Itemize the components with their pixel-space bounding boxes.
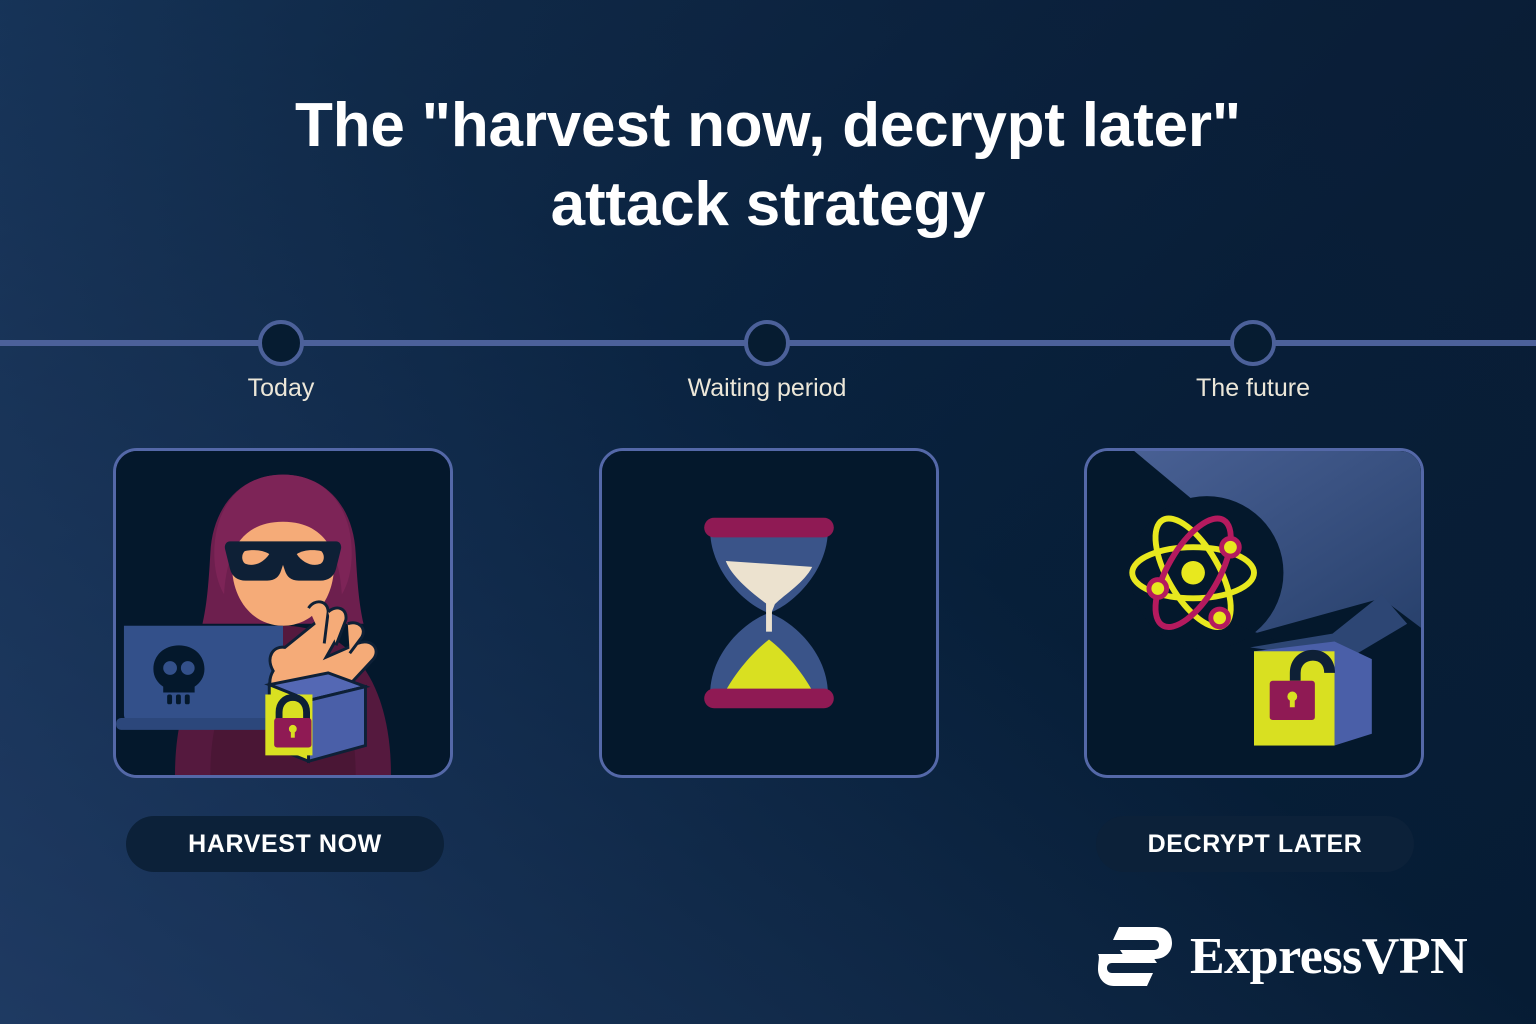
timeline-node-waiting-period xyxy=(744,320,790,366)
quantum-computer-unlocking-box-illustration xyxy=(1087,451,1421,775)
timeline-node-today xyxy=(258,320,304,366)
timeline-node-the-future xyxy=(1230,320,1276,366)
card-harvest-now xyxy=(113,448,453,778)
card-waiting-period xyxy=(599,448,939,778)
badge-decrypt-later: DECRYPT LATER xyxy=(1096,816,1414,872)
hourglass-cap-top xyxy=(704,518,834,538)
hacker-stealing-data-illustration xyxy=(116,451,450,775)
expressvpn-logo: ExpressVPN xyxy=(1096,920,1467,994)
hourglass-icon xyxy=(602,451,936,775)
hourglass-cap-bottom xyxy=(704,689,834,709)
infographic-canvas: The "harvest now, decrypt later" attack … xyxy=(0,0,1536,1024)
badge-harvest-now: HARVEST NOW xyxy=(126,816,444,872)
page-title: The "harvest now, decrypt later" attack … xyxy=(0,86,1536,245)
locked-data-box xyxy=(265,673,365,761)
timeline-label-the-future: The future xyxy=(1093,374,1413,403)
expressvpn-e-logo xyxy=(1096,920,1174,994)
expressvpn-wordmark: ExpressVPN xyxy=(1190,931,1467,983)
timeline-label-today: Today xyxy=(121,374,441,403)
card-the-future xyxy=(1084,448,1424,778)
timeline-label-waiting-period: Waiting period xyxy=(607,374,927,403)
